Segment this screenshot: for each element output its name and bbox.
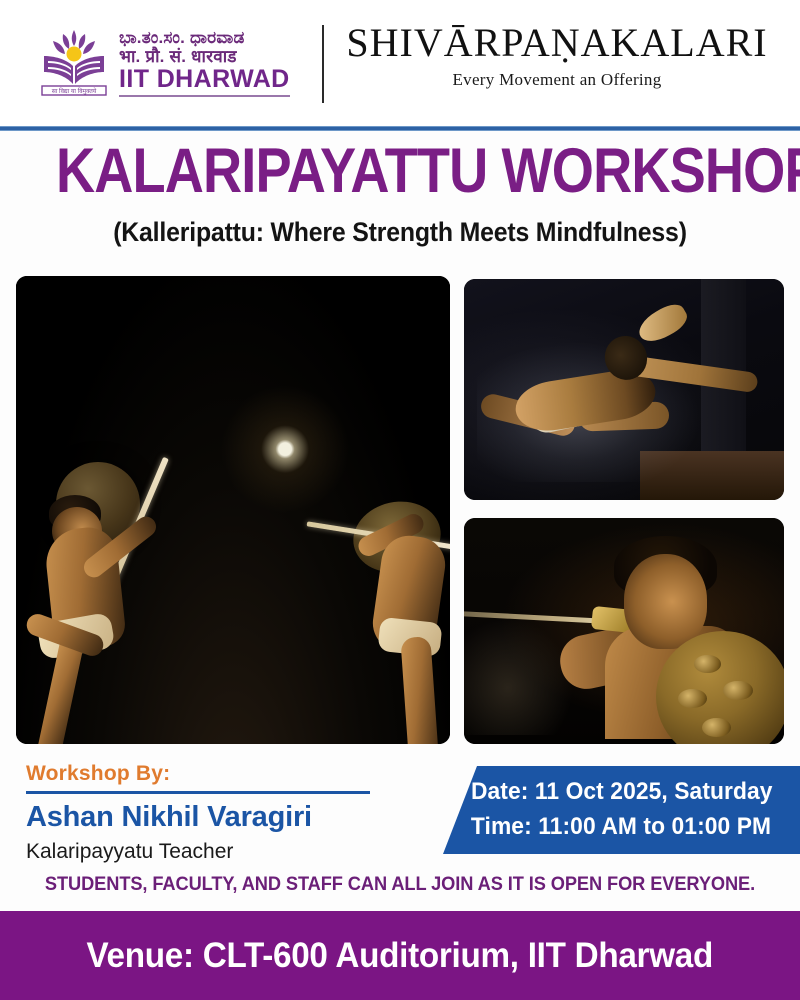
speaker-name: Ashan Nikhil Varagiri	[26, 801, 426, 834]
shield-boss	[723, 681, 753, 701]
page-subtitle: (Kalleripattu: Where Strength Meets Mind…	[32, 217, 768, 248]
institute-name-english: IIT DHARWAD	[119, 67, 290, 92]
photo-warrior-with-sword-and-shield	[464, 518, 784, 744]
header-bottom-rule	[0, 126, 800, 131]
leap-scene	[464, 279, 784, 500]
closeup-head	[624, 554, 707, 649]
speaker-divider	[26, 791, 370, 794]
speaker-role: Kalaripayyatu Teacher	[26, 840, 426, 864]
photo-sword-and-shield-duel	[16, 276, 450, 744]
open-to-all-note: STUDENTS, FACULTY, AND STAFF CAN ALL JOI…	[16, 874, 784, 896]
title-section: KALARIPAYATTU WORKSHOP (Kalleripattu: Wh…	[0, 140, 800, 248]
poster-root: सा विद्या या विमुक्तये ಭಾ.ತಂ.ಸಂ. ಧಾರವಾಡ …	[0, 0, 800, 1000]
schedule-banner: Date: 11 Oct 2025, Saturday Time: 11:00 …	[443, 766, 800, 854]
partner-tagline: Every Movement an Offering	[342, 70, 772, 90]
iit-dharwad-logo: सा विद्या या विमुक्तये ಭಾ.ತಂ.ಸಂ. ಧಾರವಾಡ …	[38, 26, 290, 100]
shivarpanakalari-logo: SHIVĀRPAṆAKALARI Every Movement an Offer…	[342, 22, 772, 90]
shield-boss	[678, 689, 708, 709]
institute-name-block: ಭಾ.ತಂ.ಸಂ. ಧಾರವಾಡ भा. प्रौ. सं. धारवाड II…	[119, 29, 290, 97]
page-title: KALARIPAYATTU WORKSHOP	[56, 140, 744, 203]
lotus-book-emblem-icon: सा विद्या या विमुक्तये	[38, 26, 110, 100]
event-date: Date: 11 Oct 2025, Saturday	[471, 775, 773, 810]
duel-fighter-left	[25, 444, 199, 744]
emblem-motto-text: सा विद्या या विमुक्तये	[52, 87, 97, 95]
venue-banner: Venue: CLT-600 Auditorium, IIT Dharwad	[0, 911, 800, 1000]
workshop-by-label: Workshop By:	[26, 762, 426, 786]
poster-header: सा विद्या या विमुक्तये ಭಾ.ತಂ.ಸಂ. ಧಾರವಾಡ …	[0, 0, 800, 126]
duel-fighter-right	[302, 463, 450, 744]
duel-scene	[16, 276, 450, 744]
partner-brand-name: SHIVĀRPAṆAKALARI	[342, 22, 772, 64]
blurred-crowd	[464, 617, 573, 735]
speaker-block: Workshop By: Ashan Nikhil Varagiri Kalar…	[26, 762, 426, 864]
institute-name-hindi: भा. प्रौ. सं. धारवाड	[119, 48, 290, 65]
header-vertical-divider	[322, 25, 324, 103]
closeup-scene	[464, 518, 784, 744]
shield-boss	[694, 655, 721, 673]
photo-leaping-warrior	[464, 279, 784, 500]
venue-text: Venue: CLT-600 Auditorium, IIT Dharwad	[87, 936, 714, 976]
shield-boss	[702, 718, 732, 738]
event-time: Time: 11:00 AM to 01:00 PM	[471, 810, 771, 845]
institute-name-kannada: ಭಾ.ತಂ.ಸಂ. ಧಾರವಾಡ	[119, 29, 290, 46]
institute-name-underline	[119, 95, 290, 97]
